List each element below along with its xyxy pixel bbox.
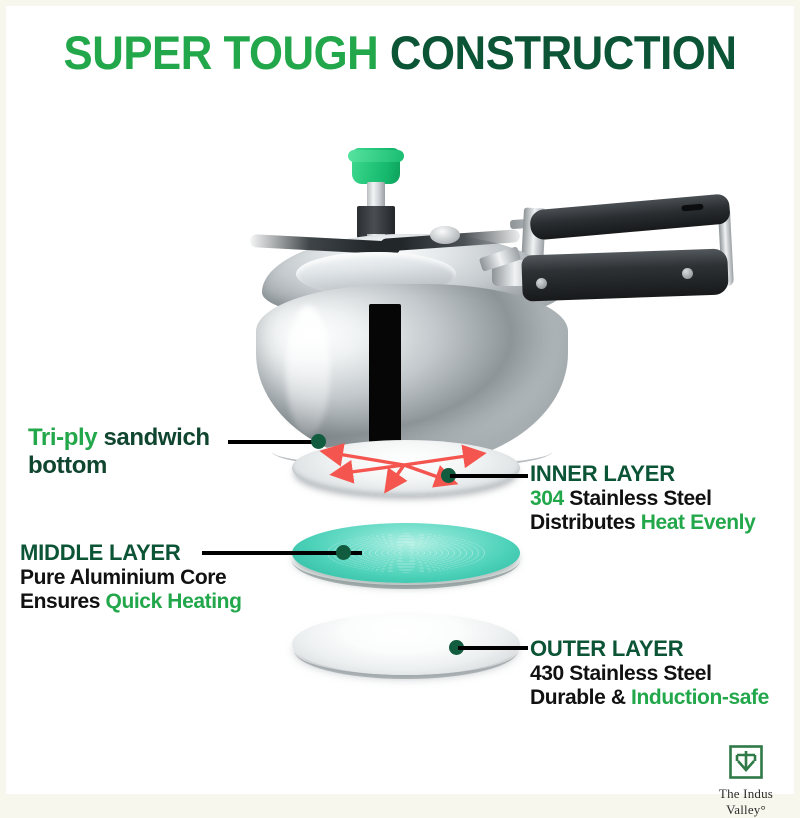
infographic-page: SUPER TOUGH CONSTRUCTION bbox=[0, 0, 800, 800]
handle-rivet-right bbox=[682, 268, 693, 279]
callout-outer-layer-heading: OUTER LAYER bbox=[530, 636, 769, 662]
callout-tri-ply-rest: sandwich bbox=[97, 424, 209, 451]
cooker-body-highlight bbox=[286, 306, 330, 436]
callout-outer-layer-line1: 430 Stainless Steel bbox=[530, 662, 769, 686]
callout-middle-layer-heading: MIDDLE LAYER bbox=[20, 540, 242, 566]
middle-benefit-emphasis: Quick Heating bbox=[106, 590, 242, 613]
pressure-regulator-knob bbox=[352, 148, 400, 184]
callout-outer-layer: OUTER LAYER 430 Stainless Steel Durable … bbox=[530, 636, 769, 710]
callout-tri-ply: Tri-ply sandwich bottom bbox=[28, 424, 210, 480]
inner-grade-material: Stainless Steel bbox=[564, 487, 712, 510]
page-title-part1: SUPER TOUGH bbox=[64, 26, 379, 79]
inner-benefit-prefix: Distributes bbox=[530, 511, 641, 534]
inner-grade-value: 304 bbox=[530, 487, 564, 510]
callout-tri-ply-emphasis: Tri-ply bbox=[28, 424, 97, 451]
cooker-body-handle bbox=[521, 248, 728, 301]
brand-logo: The Indus Valley° bbox=[698, 744, 794, 800]
callout-inner-layer-line2: Distributes Heat Evenly bbox=[530, 511, 755, 535]
knob-stem bbox=[367, 182, 385, 208]
callout-middle-layer-line1: Pure Aluminium Core bbox=[20, 566, 242, 590]
callout-inner-layer: INNER LAYER 304 Stainless Steel Distribu… bbox=[530, 461, 755, 535]
outer-benefit-emphasis: Induction-safe bbox=[631, 686, 769, 709]
callout-line-outer-layer bbox=[458, 646, 528, 650]
callout-dot-tri-ply bbox=[311, 434, 326, 449]
callout-line-inner-layer bbox=[450, 474, 528, 478]
cooker-lid-handle bbox=[529, 193, 731, 240]
handle-rivet-left bbox=[536, 278, 547, 289]
callout-outer-layer-line2: Durable & Induction-safe bbox=[530, 686, 769, 710]
callout-middle-layer-line2: Ensures Quick Heating bbox=[20, 590, 242, 614]
inner-benefit-emphasis: Heat Evenly bbox=[641, 511, 756, 534]
middle-benefit-prefix: Ensures bbox=[20, 590, 106, 613]
callout-dot-middle-layer bbox=[336, 545, 351, 560]
heat-distribution-arrows bbox=[292, 440, 520, 496]
brand-name: The Indus Valley° bbox=[698, 786, 794, 818]
callout-middle-layer: MIDDLE LAYER Pure Aluminium Core Ensures… bbox=[20, 540, 242, 614]
pressure-cooker-image bbox=[234, 134, 594, 454]
callout-line-tri-ply bbox=[228, 440, 318, 444]
outer-layer-disc bbox=[292, 613, 520, 675]
page-title: SUPER TOUGH CONSTRUCTION bbox=[34, 28, 767, 79]
callout-tri-ply-line2: bottom bbox=[28, 452, 210, 480]
indus-valley-emblem-icon bbox=[728, 744, 764, 780]
lid-vent-nut bbox=[430, 226, 460, 244]
callout-tri-ply-line1: Tri-ply sandwich bbox=[28, 424, 210, 452]
callout-inner-layer-line1: 304 Stainless Steel bbox=[530, 487, 755, 511]
outer-benefit-prefix: Durable & bbox=[530, 686, 631, 709]
callout-inner-layer-heading: INNER LAYER bbox=[530, 461, 755, 487]
page-title-part2: CONSTRUCTION bbox=[390, 26, 737, 79]
